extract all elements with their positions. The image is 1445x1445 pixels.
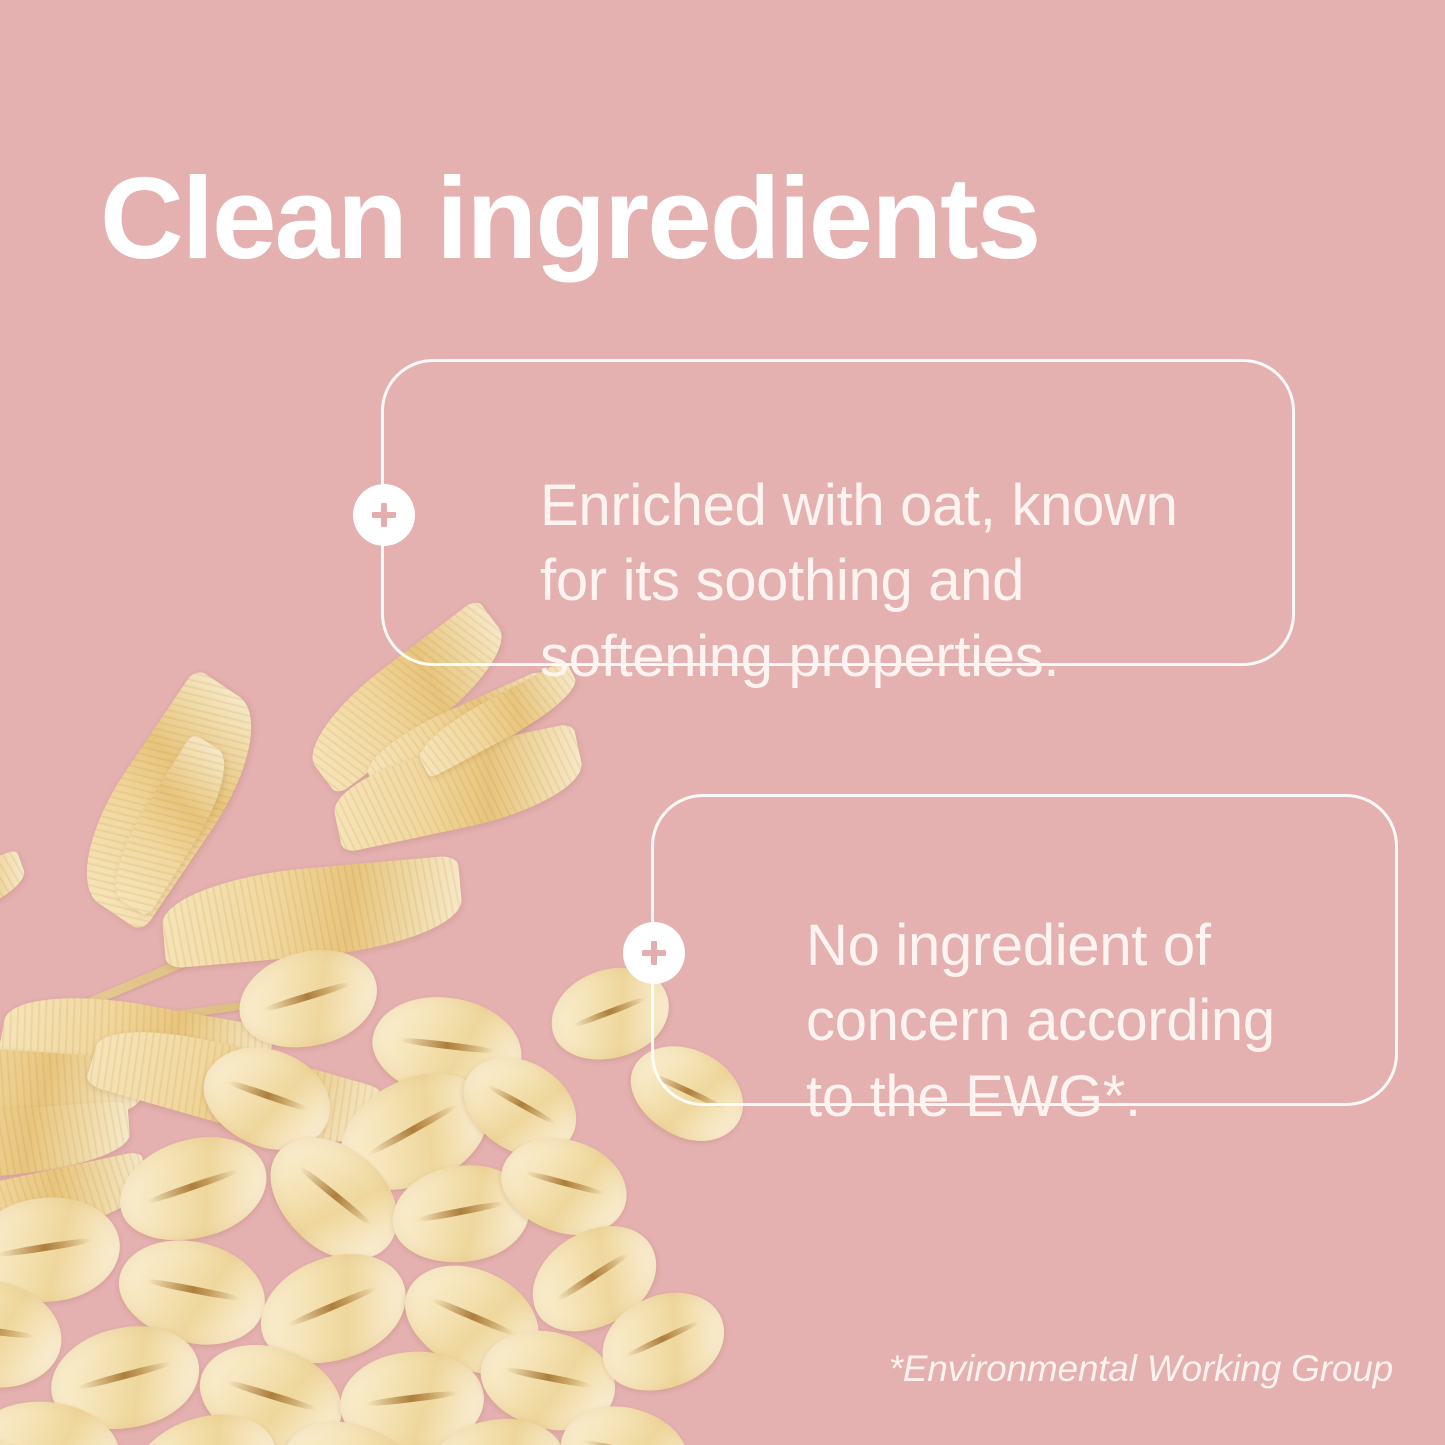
oat-flake [185,1326,356,1445]
oat-flake [489,1122,639,1249]
oat-husk [0,1041,144,1131]
plus-icon [353,484,415,546]
footnote: *Environmental Working Group [889,1348,1393,1390]
oat-husk [159,855,466,969]
product-claims-banner: Clean ingredients Enriched with oat, kno… [0,0,1445,1445]
oat-flake [388,1244,557,1393]
oat-flake [0,1268,70,1399]
oat-husk [0,849,31,938]
oat-husk [85,1010,385,1165]
oat-stem [6,904,313,1041]
oat-flake [107,1121,278,1257]
oat-flake [470,1317,625,1443]
feature-card-ewg: No ingredient of concern according to th… [651,794,1398,1106]
oat-husk [326,723,589,854]
feature-card-oat: Enriched with oat, known for its soothin… [381,359,1295,666]
oat-flake [386,1157,536,1271]
oat-flake [266,1401,439,1445]
oat-flake [41,1313,209,1442]
oat-flake [108,1226,276,1359]
oat-flake [0,1394,125,1445]
oat-flake [446,1037,594,1175]
page-title: Clean ingredients [100,156,1039,281]
oat-husk [0,1151,154,1264]
oat-flake [0,1190,125,1309]
feature-card-ewg-text: No ingredient of concern according to th… [806,908,1275,1134]
oat-flake [419,1409,574,1445]
oat-flake [587,1276,738,1409]
oat-stem [59,993,308,1036]
oat-husk [0,1101,132,1186]
feature-card-oat-text: Enriched with oat, known for its soothin… [540,468,1178,694]
oat-husk [56,667,282,932]
plus-icon [623,922,685,984]
oat-husk [97,733,243,917]
oat-flake [189,1029,345,1167]
oat-husk [0,981,275,1106]
oat-flake [321,1051,507,1213]
oat-flake [550,1392,700,1445]
oat-flake [247,1113,421,1284]
oat-flake [229,936,388,1061]
oat-flake [245,1235,421,1382]
oat-stem [0,1021,137,1087]
oat-flake [118,1398,289,1445]
oat-husk [358,670,562,799]
oat-flake [513,1205,674,1352]
oat-flake [364,986,529,1111]
oat-flake [0,1416,44,1445]
oat-flake [337,1347,487,1445]
